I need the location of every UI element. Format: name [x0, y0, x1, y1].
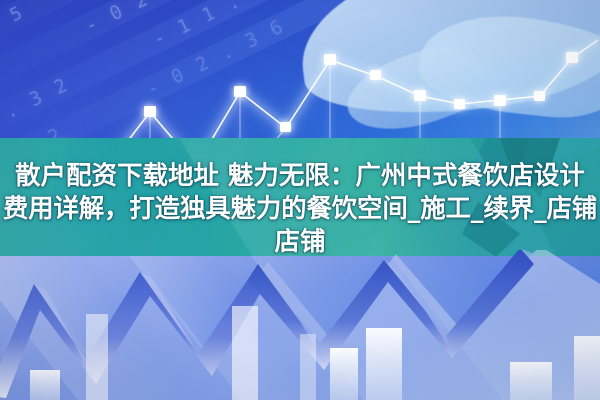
teal-angular-shapes — [0, 138, 600, 257]
banner-image: -11.25 +45.02 -26.32 -50.02 21.03 -02.35… — [0, 0, 600, 400]
teal-band — [0, 138, 600, 257]
bar — [30, 328, 600, 400]
bottom-bar-chart — [0, 250, 600, 400]
